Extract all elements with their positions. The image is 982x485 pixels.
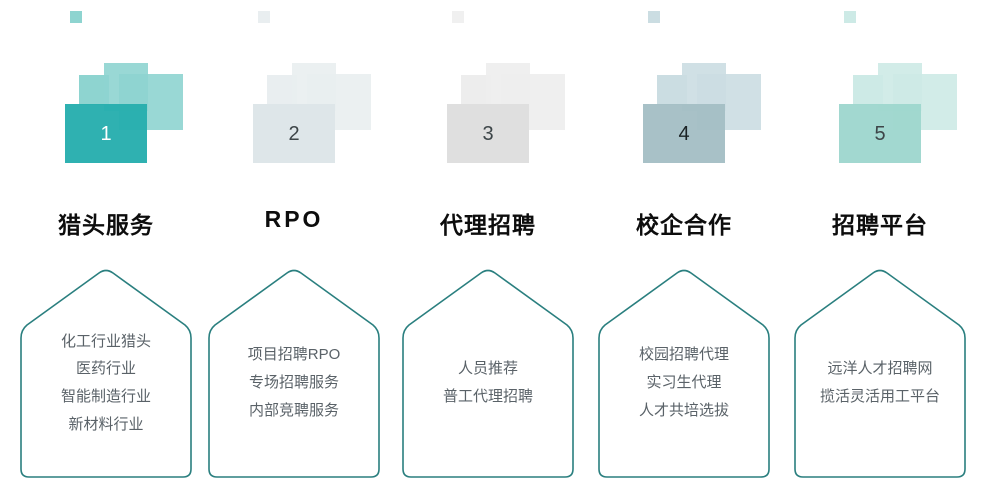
service-title: 招聘平台 <box>782 206 978 240</box>
card-item: 化工行业猎头 <box>61 328 151 356</box>
infographic-board: 1猎头服务化工行业猎头医药行业智能制造行业新材料行业2RPO项目招聘RPO专场招… <box>0 0 982 485</box>
card-item: 人才共培选拔 <box>639 397 729 425</box>
service-column-3[interactable]: 3代理招聘人员推荐普工代理招聘 <box>390 0 586 485</box>
square-cluster: 3 <box>390 0 586 175</box>
service-column-4[interactable]: 4校企合作校园招聘代理实习生代理人才共培选拔 <box>586 0 782 485</box>
service-card[interactable]: 远洋人才招聘网揽活灵活用工平台 <box>787 268 973 480</box>
service-title: 校企合作 <box>586 206 782 240</box>
decorative-square-tiny <box>452 11 464 23</box>
service-column-5[interactable]: 5招聘平台远洋人才招聘网揽活灵活用工平台 <box>782 0 978 485</box>
card-item: 项目招聘RPO <box>248 341 341 369</box>
card-item: 智能制造行业 <box>61 383 151 411</box>
card-item: 普工代理招聘 <box>443 383 533 411</box>
card-item: 医药行业 <box>76 355 136 383</box>
step-number: 5 <box>839 104 921 163</box>
square-cluster: 4 <box>586 0 782 175</box>
card-item: 揽活灵活用工平台 <box>820 383 940 411</box>
decorative-square-tiny <box>648 11 660 23</box>
service-card[interactable]: 人员推荐普工代理招聘 <box>395 268 581 480</box>
card-item: 内部竞聘服务 <box>249 397 339 425</box>
step-number: 2 <box>253 104 335 163</box>
decorative-square-tiny <box>844 11 856 23</box>
service-title: 代理招聘 <box>390 206 586 240</box>
card-item: 专场招聘服务 <box>249 369 339 397</box>
card-item: 校园招聘代理 <box>639 341 729 369</box>
card-item-list: 化工行业猎头医药行业智能制造行业新材料行业 <box>13 268 199 480</box>
card-item: 实习生代理 <box>646 369 721 397</box>
card-item-list: 校园招聘代理实习生代理人才共培选拔 <box>591 268 777 480</box>
square-cluster: 1 <box>8 0 204 175</box>
step-number: 1 <box>65 104 147 163</box>
square-cluster: 2 <box>196 0 392 175</box>
card-item-list: 人员推荐普工代理招聘 <box>395 268 581 480</box>
service-column-2[interactable]: 2RPO项目招聘RPO专场招聘服务内部竞聘服务 <box>196 0 392 485</box>
service-card[interactable]: 项目招聘RPO专场招聘服务内部竞聘服务 <box>201 268 387 480</box>
service-title: RPO <box>196 206 392 233</box>
card-item: 新材料行业 <box>68 411 143 439</box>
step-number: 4 <box>643 104 725 163</box>
card-item-list: 项目招聘RPO专场招聘服务内部竞聘服务 <box>201 268 387 480</box>
step-number: 3 <box>447 104 529 163</box>
service-card[interactable]: 校园招聘代理实习生代理人才共培选拔 <box>591 268 777 480</box>
service-title: 猎头服务 <box>8 206 204 240</box>
service-card[interactable]: 化工行业猎头医药行业智能制造行业新材料行业 <box>13 268 199 480</box>
decorative-square-tiny <box>258 11 270 23</box>
square-cluster: 5 <box>782 0 978 175</box>
card-item: 远洋人才招聘网 <box>827 355 932 383</box>
decorative-square-tiny <box>70 11 82 23</box>
card-item: 人员推荐 <box>458 355 518 383</box>
card-item-list: 远洋人才招聘网揽活灵活用工平台 <box>787 268 973 480</box>
service-column-1[interactable]: 1猎头服务化工行业猎头医药行业智能制造行业新材料行业 <box>8 0 204 485</box>
